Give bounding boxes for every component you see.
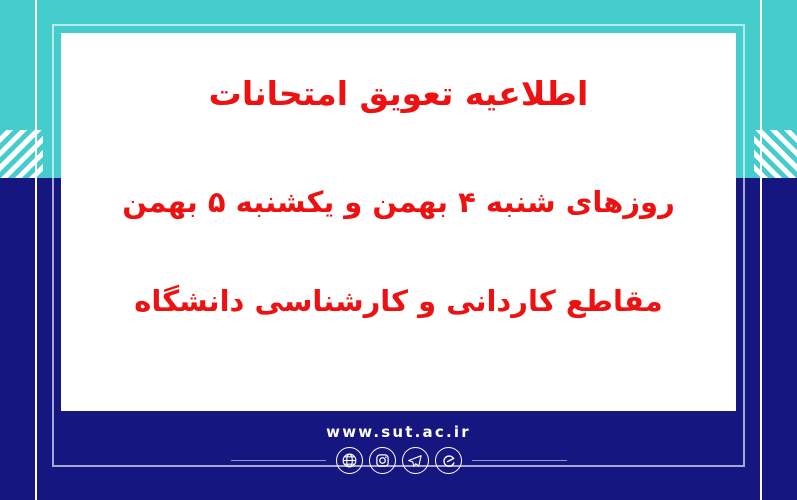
footer-rule-right bbox=[472, 460, 567, 461]
instagram-icon[interactable] bbox=[369, 447, 396, 474]
poster-subtitle-levels: مقاطع کاردانی و کارشناسی دانشگاه bbox=[134, 283, 662, 319]
poster-title: اطلاعیه تعویق امتحانات bbox=[209, 73, 589, 114]
social-icon-group bbox=[336, 447, 462, 474]
left-hairline-divider bbox=[35, 0, 37, 500]
footer-rule-left bbox=[231, 460, 326, 461]
site-url-text[interactable]: www.sut.ac.ir bbox=[326, 425, 471, 440]
announcement-poster: اطلاعیه تعویق امتحانات روزهای شنبه ۴ بهم… bbox=[0, 0, 797, 500]
social-row bbox=[231, 447, 567, 474]
content-card: اطلاعیه تعویق امتحانات روزهای شنبه ۴ بهم… bbox=[61, 33, 736, 411]
content-card-inner: اطلاعیه تعویق امتحانات روزهای شنبه ۴ بهم… bbox=[61, 33, 736, 411]
globe-icon[interactable] bbox=[336, 447, 363, 474]
telegram-icon[interactable] bbox=[402, 447, 429, 474]
eitaa-icon[interactable] bbox=[435, 447, 462, 474]
right-hairline-divider bbox=[760, 0, 762, 500]
poster-footer: www.sut.ac.ir bbox=[61, 411, 736, 500]
poster-subtitle-dates: روزهای شنبه ۴ بهمن و یکشنبه ۵ بهمن bbox=[122, 184, 675, 220]
